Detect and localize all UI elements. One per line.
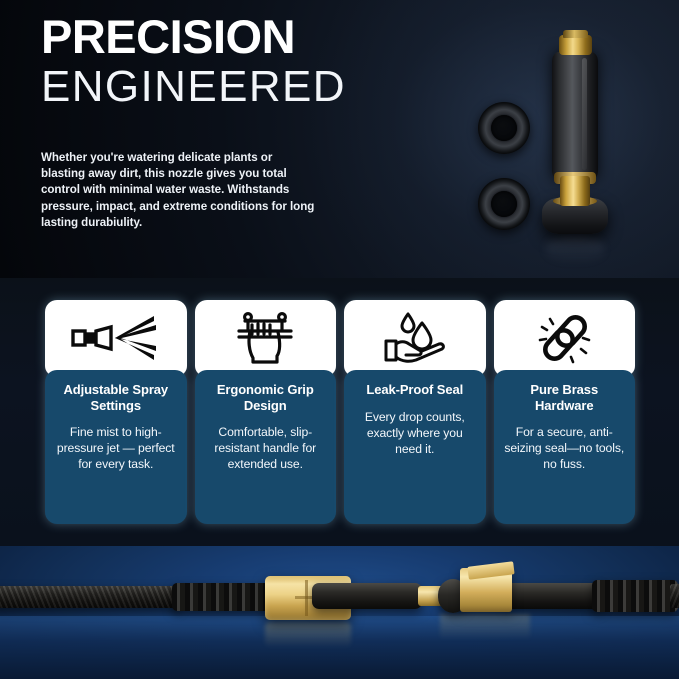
valve-reflection — [440, 614, 530, 640]
feature-card-leak-proof-seal[interactable]: Leak-Proof Seal Every drop counts, exact… — [344, 300, 486, 524]
feature-description: Every drop counts, exactly where you nee… — [352, 409, 478, 457]
hero-product-image — [430, 8, 679, 278]
braided-hose — [0, 586, 180, 608]
feature-card-adjustable-spray[interactable]: Adjustable Spray Settings Fine mist to h… — [45, 300, 187, 524]
product-infographic: PRECISION ENGINEERED Whether you're wate… — [0, 0, 679, 679]
nozzle-brass-neck — [560, 176, 590, 206]
nozzle-reflection — [546, 234, 604, 264]
spray-nozzle-icon — [70, 312, 162, 364]
hose-with-shutoff-valve — [320, 580, 679, 614]
feature-text-panel: Leak-Proof Seal Every drop counts, exact… — [344, 370, 486, 524]
headline-primary: PRECISION — [41, 12, 461, 62]
strain-relief-ribs — [592, 580, 678, 612]
features-section: Adjustable Spray Settings Fine mist to h… — [0, 278, 679, 546]
bottom-photo-section — [0, 546, 679, 679]
braided-hose — [670, 584, 679, 608]
rubber-washer-icon — [478, 178, 530, 230]
feature-text-panel: Adjustable Spray Settings Fine mist to h… — [45, 370, 187, 524]
feature-text-panel: Ergonomic Grip Design Comfortable, slip-… — [195, 370, 337, 524]
headline-block: PRECISION ENGINEERED — [41, 12, 461, 112]
feature-title: Leak-Proof Seal — [366, 382, 463, 398]
feature-title: Adjustable Spray Settings — [53, 382, 179, 413]
feature-title: Ergonomic Grip Design — [203, 382, 329, 413]
hose-with-brass-coupling — [0, 582, 290, 612]
feature-card-pure-brass[interactable]: Pure Brass Hardware For a secure, anti-s… — [494, 300, 636, 524]
feature-icon-panel — [494, 300, 636, 376]
headline-secondary: ENGINEERED — [41, 62, 461, 112]
strain-relief-ribs — [172, 583, 272, 611]
hand-grip-icon — [235, 311, 295, 365]
feature-card-ergonomic-grip[interactable]: Ergonomic Grip Design Comfortable, slip-… — [195, 300, 337, 524]
feature-description: For a secure, anti-seizing seal—no tools… — [502, 424, 628, 472]
feature-title: Pure Brass Hardware — [502, 382, 628, 413]
hose-grip-left — [312, 583, 422, 609]
feature-card-list: Adjustable Spray Settings Fine mist to h… — [45, 300, 635, 524]
feature-description: Comfortable, slip-resistant handle for e… — [203, 424, 329, 472]
nozzle-barrel — [552, 52, 598, 180]
hand-water-drop-icon — [382, 310, 448, 366]
feature-icon-panel — [195, 300, 337, 376]
coupling-reflection — [265, 622, 351, 648]
hero-section: PRECISION ENGINEERED Whether you're wate… — [0, 0, 679, 278]
feature-text-panel: Pure Brass Hardware For a secure, anti-s… — [494, 370, 636, 524]
nozzle-tip — [563, 30, 588, 38]
feature-description: Fine mist to high-pressure jet — perfect… — [53, 424, 179, 472]
feature-icon-panel — [344, 300, 486, 376]
hose-body-right — [506, 583, 602, 609]
rubber-washer-icon — [478, 102, 530, 154]
nozzle-product — [542, 28, 608, 228]
nozzle-top-brass-ring — [559, 35, 592, 55]
chain-link-icon — [533, 310, 595, 366]
hero-description: Whether you're watering delicate plants … — [41, 150, 316, 231]
feature-icon-panel — [45, 300, 187, 376]
